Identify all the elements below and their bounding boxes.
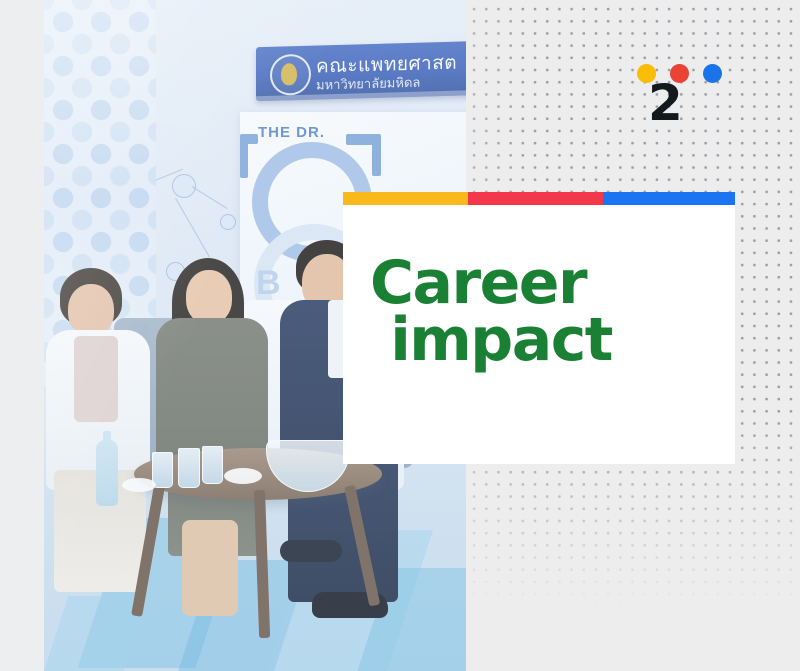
headline-line-2: impact	[370, 312, 700, 369]
blue-dot-icon	[703, 64, 722, 83]
accent-bar	[343, 192, 735, 205]
left-gutter	[0, 0, 44, 671]
accent-bar-yellow	[343, 192, 468, 205]
accent-bar-blue	[603, 192, 735, 205]
accent-bar-red	[468, 192, 603, 205]
slide-number: 2	[648, 78, 683, 128]
slide-root: คณะแพทยศาสต มหาวิทยาลัยมหิดล THE DR. THE…	[0, 0, 800, 671]
page-title: Career impact	[370, 255, 700, 369]
